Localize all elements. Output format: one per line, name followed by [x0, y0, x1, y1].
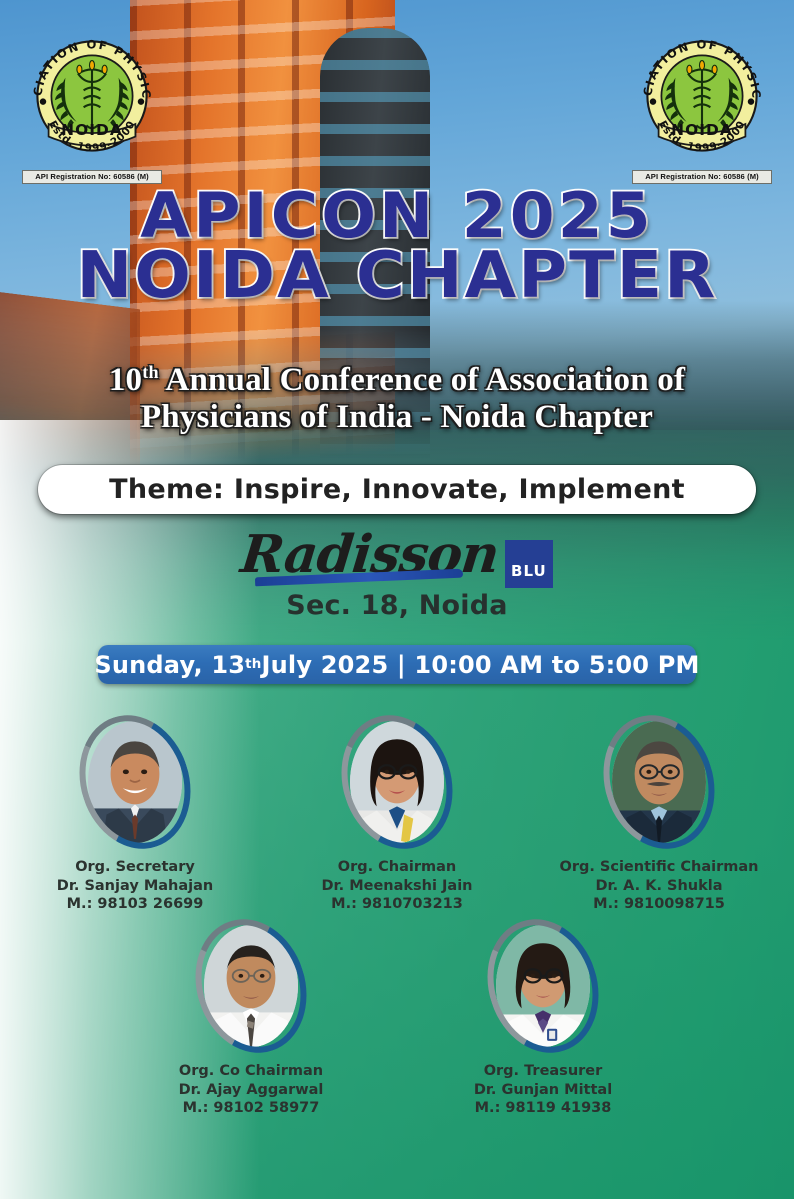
official-role: Org. Secretary: [30, 858, 240, 877]
event-datetime-banner: Sunday, 13th July 2025 | 10:00 AM to 5:0…: [98, 645, 696, 684]
avatar-ring: [471, 905, 616, 1068]
api-noida-seal-icon: ASSOCIATION OF PHYSICIANS: [22, 26, 162, 166]
blu-badge: BLU: [505, 540, 553, 588]
logo-right: ASSOCIATION OF PHYSICIANS: [632, 26, 772, 184]
theme-text: Theme: Inspire, Innovate, Implement: [109, 474, 685, 505]
avatar-ring: [63, 701, 208, 864]
conference-subtitle: 10th Annual Conference of Association of…: [0, 362, 794, 436]
official-card: Org. Chairman Dr. Meenakshi Jain M.: 981…: [292, 714, 502, 914]
venue-block: Radisson BLU Sec. 18, Noida: [0, 524, 794, 621]
logo-left: ASSOCIATION OF PHYSICIANS: [22, 26, 162, 184]
official-card: Org. Secretary Dr. Sanjay Mahajan M.: 98…: [30, 714, 240, 914]
official-role: Org. Co Chairman: [146, 1062, 356, 1081]
subtitle-ordinal-suffix: th: [142, 362, 159, 382]
theme-banner: Theme: Inspire, Innovate, Implement: [38, 465, 756, 514]
official-card: Org. Treasurer Dr. Gunjan Mittal M.: 981…: [438, 918, 648, 1118]
official-card: Org. Scientific Chairman Dr. A. K. Shukl…: [554, 714, 764, 914]
official-role: Org. Scientific Chairman: [554, 858, 764, 877]
conference-poster: ASSOCIATION OF PHYSICIANS: [0, 0, 794, 1199]
official-phone: M.: 98103 26699: [30, 895, 240, 914]
official-name: Dr. Ajay Aggarwal: [146, 1081, 356, 1100]
avatar: [197, 918, 305, 1054]
official-phone: M.: 9810703213: [292, 895, 502, 914]
event-date-text: Sunday, 13: [94, 651, 245, 679]
avatar: [81, 714, 189, 850]
avatar: [489, 918, 597, 1054]
avatar-ring: [179, 905, 324, 1068]
official-name: Dr. Gunjan Mittal: [438, 1081, 648, 1100]
subtitle-line-1: 10th Annual Conference of Association of: [0, 362, 794, 399]
subtitle-ordinal-number: 10: [109, 362, 142, 398]
subtitle-line-1-text: Annual Conference of Association of: [159, 362, 685, 398]
official-phone: M.: 98119 41938: [438, 1099, 648, 1118]
official-phone: M.: 98102 58977: [146, 1099, 356, 1118]
poster-title: APICON 2025 NOIDA CHAPTER: [0, 186, 794, 307]
radisson-blu-logo: Radisson BLU: [241, 524, 553, 588]
officials-row-1: Org. Secretary Dr. Sanjay Mahajan M.: 98…: [0, 714, 794, 914]
avatar: [343, 714, 451, 850]
officials-row-2: Org. Co Chairman Dr. Ajay Aggarwal M.: 9…: [0, 918, 794, 1118]
official-phone: M.: 9810098715: [554, 895, 764, 914]
official-name: Dr. Meenakshi Jain: [292, 877, 502, 896]
event-date-ordinal: th: [245, 657, 261, 672]
official-role: Org. Treasurer: [438, 1062, 648, 1081]
avatar: [605, 714, 713, 850]
title-text-noida-chapter: NOIDA CHAPTER: [0, 246, 794, 307]
api-noida-seal-icon: ASSOCIATION OF PHYSICIANS: [632, 26, 772, 166]
event-time-text: July 2025 | 10:00 AM to 5:00 PM: [262, 651, 700, 679]
official-card: Org. Co Chairman Dr. Ajay Aggarwal M.: 9…: [146, 918, 356, 1118]
title-line-1: APICON 2025 NOIDA CHAPTER: [0, 186, 794, 307]
official-name: Dr. A. K. Shukla: [554, 877, 764, 896]
avatar-ring: [325, 701, 470, 864]
subtitle-line-2: Physicians of India - Noida Chapter: [0, 399, 794, 436]
venue-location: Sec. 18, Noida: [0, 590, 794, 621]
official-role: Org. Chairman: [292, 858, 502, 877]
official-name: Dr. Sanjay Mahajan: [30, 877, 240, 896]
avatar-ring: [587, 701, 732, 864]
